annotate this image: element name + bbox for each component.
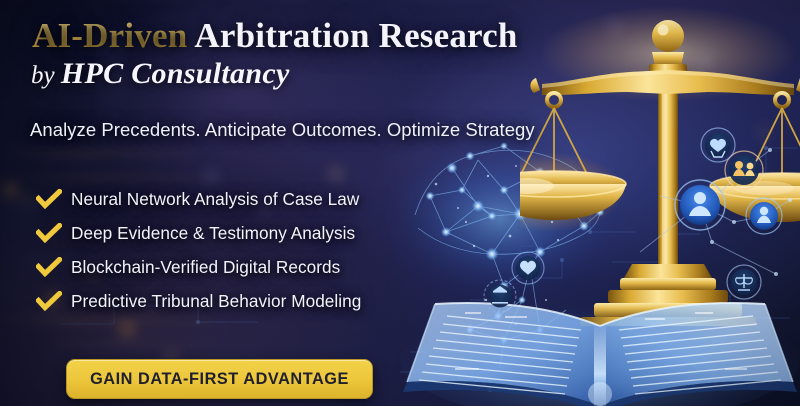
list-item-label: Neural Network Analysis of Case Law	[71, 189, 359, 210]
list-item-label: Blockchain-Verified Digital Records	[71, 257, 340, 278]
tagline: Analyze Precedents. Anticipate Outcomes.…	[30, 119, 535, 141]
page-title: AI-Driven Arbitration Research	[32, 16, 518, 56]
byline: by HPC Consultancy	[31, 57, 290, 91]
check-icon	[36, 189, 62, 209]
byline-prefix: by	[31, 62, 61, 89]
byline-brand: HPC Consultancy	[61, 57, 290, 90]
check-icon	[36, 291, 62, 311]
promo-banner: AI-Driven Arbitration Research by HPC Co…	[0, 0, 800, 406]
list-item-label: Predictive Tribunal Behavior Modeling	[71, 291, 361, 312]
list-item-label: Deep Evidence & Testimony Analysis	[71, 223, 355, 244]
headline-rest: Arbitration Research	[187, 16, 517, 55]
list-item: Predictive Tribunal Behavior Modeling	[36, 284, 361, 318]
cta-button[interactable]: GAIN DATA-FIRST ADVANTAGE	[66, 359, 373, 399]
scales-of-justice-graphic	[520, 0, 800, 326]
banner-content: AI-Driven Arbitration Research by HPC Co…	[0, 0, 520, 406]
list-item: Neural Network Analysis of Case Law	[36, 182, 361, 216]
check-icon	[36, 223, 62, 243]
list-item: Deep Evidence & Testimony Analysis	[36, 216, 361, 250]
cta-button-label: GAIN DATA-FIRST ADVANTAGE	[90, 370, 349, 389]
headline-accent: AI-Driven	[32, 16, 187, 55]
list-item: Blockchain-Verified Digital Records	[36, 250, 361, 284]
feature-list: Neural Network Analysis of Case Law Deep…	[36, 182, 361, 318]
check-icon	[36, 257, 62, 277]
